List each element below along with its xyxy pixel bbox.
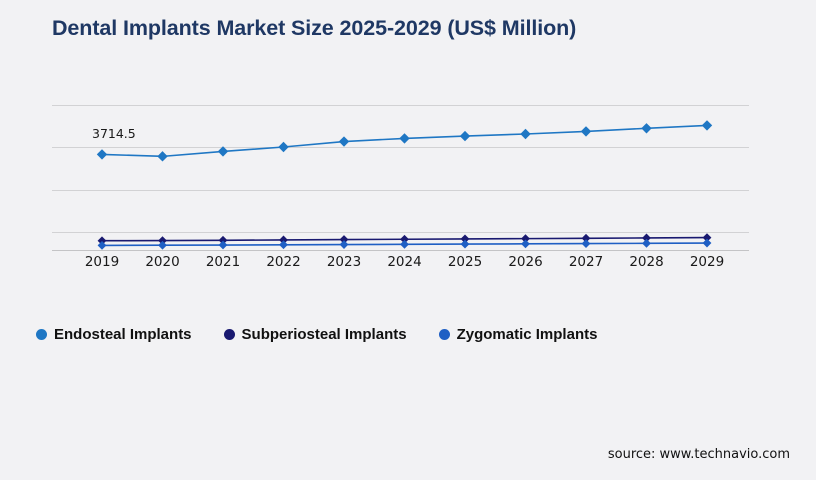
series-marker — [279, 240, 288, 249]
x-axis-tick-2024: 2024 — [387, 254, 421, 270]
x-axis-tick-2021: 2021 — [206, 254, 240, 270]
legend-marker-icon — [224, 329, 235, 340]
legend-marker-icon — [36, 329, 47, 340]
legend-label: Zygomatic Implants — [457, 326, 598, 343]
series-marker — [641, 123, 651, 133]
legend-item-endosteal-implants[interactable]: Endosteal Implants — [36, 326, 192, 343]
series-marker — [460, 131, 470, 141]
series-marker — [218, 146, 228, 156]
series-marker — [98, 241, 107, 250]
legend-item-zygomatic-implants[interactable]: Zygomatic Implants — [439, 326, 598, 343]
series-marker — [520, 129, 530, 139]
series-marker — [642, 239, 651, 248]
data-label-2019-endosteal: 3714.5 — [92, 126, 136, 141]
series-marker — [702, 120, 712, 130]
chart-legend: Endosteal ImplantsSubperiosteal Implants… — [36, 324, 629, 344]
series-marker — [157, 151, 167, 161]
x-axis-tick-2020: 2020 — [145, 254, 179, 270]
x-axis-tick-2019: 2019 — [85, 254, 119, 270]
x-axis-tick-2029: 2029 — [690, 254, 724, 270]
chart-title: Dental Implants Market Size 2025-2029 (U… — [52, 16, 576, 41]
series-marker — [461, 240, 470, 249]
series-marker — [278, 142, 288, 152]
x-axis-tick-2028: 2028 — [629, 254, 663, 270]
source-note: source: www.technavio.com — [608, 447, 790, 462]
series-marker — [399, 133, 409, 143]
series-marker — [219, 241, 228, 250]
plot-area: 3714.5 — [52, 95, 749, 251]
legend-label: Subperiosteal Implants — [242, 326, 407, 343]
series-marker — [581, 126, 591, 136]
series-marker — [521, 239, 530, 248]
x-axis-labels: 2019202020212022202320242025202620272028… — [52, 254, 749, 276]
series-marker — [400, 240, 409, 249]
series-marker — [339, 136, 349, 146]
chart-series-svg — [52, 95, 749, 251]
x-axis-tick-2027: 2027 — [569, 254, 603, 270]
series-marker — [582, 239, 591, 248]
x-axis-tick-2022: 2022 — [266, 254, 300, 270]
series-marker — [97, 149, 107, 159]
series-endosteal-implants — [97, 120, 712, 161]
x-axis-tick-2026: 2026 — [508, 254, 542, 270]
series-marker — [703, 239, 712, 248]
legend-marker-icon — [439, 329, 450, 340]
chart-container: Dental Implants Market Size 2025-2029 (U… — [0, 0, 816, 480]
x-axis-tick-2023: 2023 — [327, 254, 361, 270]
legend-item-subperiosteal-implants[interactable]: Subperiosteal Implants — [224, 326, 407, 343]
legend-label: Endosteal Implants — [54, 326, 192, 343]
series-marker — [340, 240, 349, 249]
x-axis-tick-2025: 2025 — [448, 254, 482, 270]
series-marker — [158, 241, 167, 250]
